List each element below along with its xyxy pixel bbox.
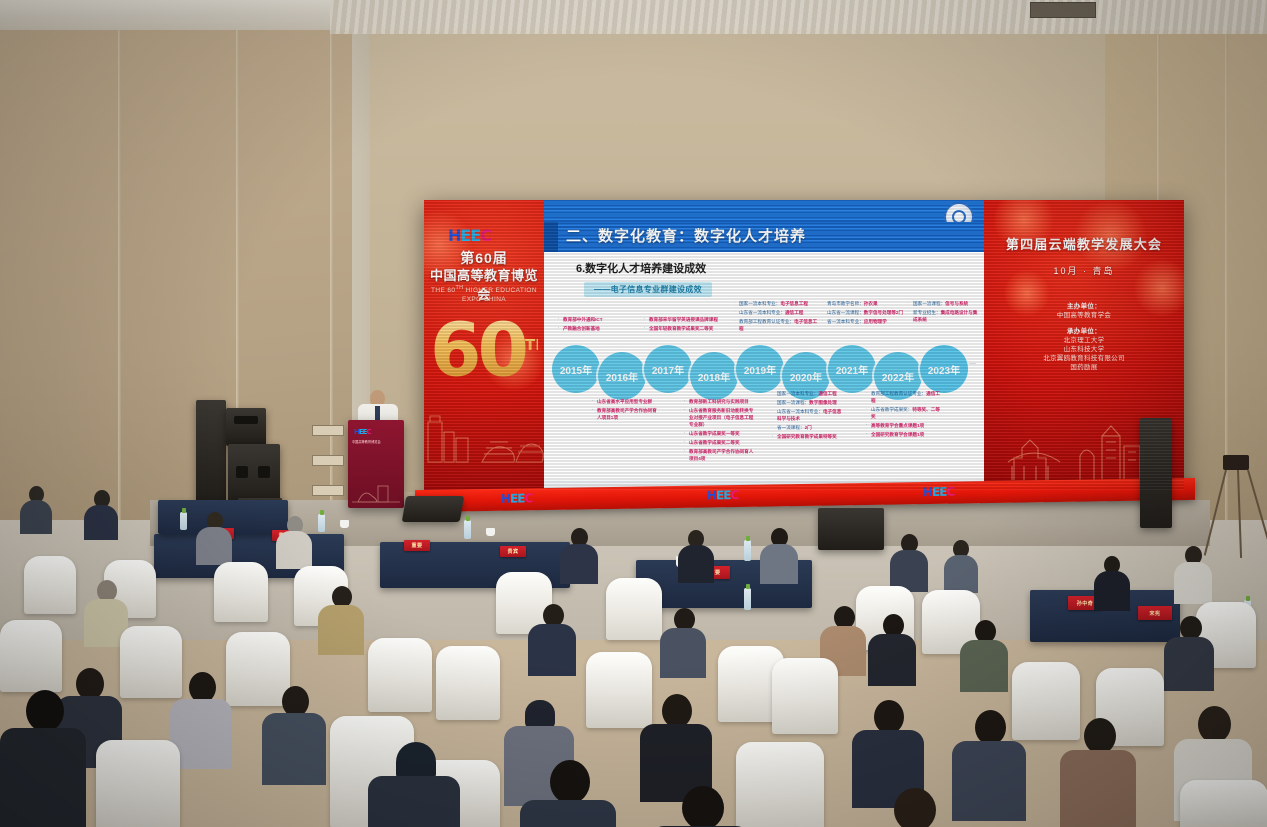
water-bottle-3 xyxy=(464,520,471,539)
slide-top-bar xyxy=(544,200,984,222)
chair xyxy=(214,562,268,622)
chair xyxy=(24,556,76,614)
loudspeaker-icon-left-mid xyxy=(226,408,266,446)
audience-person xyxy=(1060,718,1136,827)
audience-person-foreground xyxy=(650,786,750,827)
chair xyxy=(368,638,432,712)
audience-person xyxy=(262,686,326,782)
presentation-slide: 二、数字化教育：数字化人才培养 6.数字化人才培养建设成效 ——电子信息专业群建… xyxy=(544,200,984,490)
wall-poster-2 xyxy=(312,455,344,466)
audience-person xyxy=(196,512,232,562)
chair xyxy=(436,646,500,720)
audience-person xyxy=(1094,556,1130,608)
tea-cup-2 xyxy=(486,528,495,536)
slide-heading: 6.数字化人才培养建设成效 xyxy=(576,260,706,276)
audience-person xyxy=(760,528,798,580)
audience-person-foreground xyxy=(860,788,964,827)
timeline-column-2016-below: 山东省高水平应用型专业群教育部高教司产学合作协同育人项目1项 xyxy=(592,398,658,423)
audience-person xyxy=(20,486,52,532)
audience-person xyxy=(84,490,118,538)
podium-text: 中国高等教育博览会 xyxy=(352,440,400,445)
wall-poster-3 xyxy=(312,485,344,496)
slide-subtitle-pill: ——电子信息专业群建设成效 xyxy=(584,282,712,297)
conference-hall-photo: HEEC 第60届 中国高等教育博览会 THE 60TH HIGHER EDUC… xyxy=(0,0,1267,827)
water-bottle-1 xyxy=(180,512,187,530)
timeline-column-2017-above: 教育部来华留学英语授课品牌课程全国年轻教育教学成果奖二等奖 xyxy=(644,316,728,334)
conference-date-location: 10月 · 青岛 xyxy=(984,264,1184,277)
timeline-circle-2023[interactable]: 2023年 xyxy=(920,345,968,393)
slide-section-title: 二、数字化教育：数字化人才培养 xyxy=(566,225,806,246)
audience-person xyxy=(944,540,978,590)
timeline-circle-2015[interactable]: 2015年 xyxy=(552,345,600,393)
audience-person-foreground xyxy=(520,760,616,827)
host-name: 中国高等教育学会 xyxy=(984,311,1184,320)
coorganizer-4: 国药励展 xyxy=(984,363,1184,372)
heec-logo-rail-2: HEEC xyxy=(707,488,738,502)
audience-person xyxy=(528,604,576,672)
coorganizer-3: 北京翼鸥教育科技有限公司 xyxy=(984,354,1184,363)
host-label: 主办单位： xyxy=(984,302,1184,311)
audience-person xyxy=(1174,546,1212,600)
timeline-column-2015-above: 教育部中外通和ICT产教融合创新基地 xyxy=(558,316,618,334)
podium-heec-logo: HEEC xyxy=(354,428,371,436)
floor-monitor-icon xyxy=(402,496,465,522)
coorganizer-1: 北京理工大学 xyxy=(984,336,1184,345)
ceiling-vent-icon xyxy=(1030,2,1096,18)
chair xyxy=(96,740,180,827)
audience-person-foreground xyxy=(368,742,460,827)
audience-person xyxy=(890,534,928,588)
timeline-column-2023-above: 国家一流课程：信号与系统新专业招生：集成电路设计与集成系统 xyxy=(908,300,978,325)
loudspeaker-icon-right xyxy=(1140,418,1172,528)
water-bottle-5 xyxy=(744,588,751,610)
ceiling-ribs xyxy=(330,0,1267,34)
chair xyxy=(772,658,838,734)
left-event-banner: HEEC 第60届 中国高等教育博览会 THE 60TH HIGHER EDUC… xyxy=(424,200,544,490)
video-camera-icon xyxy=(1215,455,1261,560)
audience-person xyxy=(640,694,712,800)
timeline-circle-2017[interactable]: 2017年 xyxy=(644,345,692,393)
timeline-circle-2021[interactable]: 2021年 xyxy=(828,345,876,393)
coorganizer-2: 山东科技大学 xyxy=(984,345,1184,354)
audience-person xyxy=(318,586,364,650)
equipment-case-center xyxy=(818,508,884,550)
coorganizer-label: 承办单位： xyxy=(984,327,1184,336)
camera-body xyxy=(1223,455,1249,470)
water-bottle-4 xyxy=(744,540,751,561)
led-stage-screen: HEEC 第60届 中国高等教育博览会 THE 60TH HIGHER EDUC… xyxy=(424,200,1184,490)
heec-logo-rail-3: HEEC xyxy=(923,485,954,499)
timeline-circle-2016[interactable]: 2016年 xyxy=(598,352,646,400)
timeline-circle-2018[interactable]: 2018年 xyxy=(690,352,738,400)
audience-person xyxy=(276,516,312,566)
organizer-block: 主办单位： 中国高等教育学会 承办单位： 北京理工大学 山东科技大学 北京翼鸥教… xyxy=(984,302,1184,372)
podium-graphic xyxy=(348,464,404,504)
timeline-column-2019-above: 国家一流本科专业：电子信息工程山东省一流本科专业：通信工程教育部工程教育认证专业… xyxy=(734,300,818,334)
left-wall-panels xyxy=(0,18,352,578)
chair xyxy=(606,578,662,640)
heec-logo: HEEC xyxy=(448,226,491,245)
subwoofer-icon-left xyxy=(228,444,280,506)
timeline-column-2018-below: 教育部新工科研究与实践项目山东省教育服务新旧动能转换专业对接产业项目（电子信息工… xyxy=(684,398,756,464)
timeline-column-2020-below: 国家一流本科专业：通信工程国家一流课程：数字图像处理山东省一流本科专业：电子信息… xyxy=(772,390,844,442)
audience-person xyxy=(868,614,916,682)
wall-poster-1 xyxy=(312,425,344,436)
skyline-illustration-left xyxy=(424,404,544,464)
conference-title: 第四届云端教学发展大会 xyxy=(984,234,1184,253)
timeline-circle-2019[interactable]: 2019年 xyxy=(736,345,784,393)
tea-cup-1 xyxy=(340,520,349,528)
heec-logo-rail-1: HEEC xyxy=(501,491,532,505)
audience-person xyxy=(678,530,714,580)
audience-person xyxy=(660,608,706,674)
audience-person xyxy=(1164,616,1214,686)
big-60-graphic: 60TH xyxy=(430,308,538,388)
table-placard-3: 重要 xyxy=(404,540,430,551)
chair xyxy=(1180,780,1267,827)
audience-person xyxy=(960,620,1008,688)
podium: HEEC 中国高等教育博览会 xyxy=(348,420,404,508)
audience-person xyxy=(560,528,598,580)
loudspeaker-icon-left-tall xyxy=(196,400,226,506)
timeline-column-2021-above: 青岛市教学名师：孙农果山东省一流课程：数字信号处理等2门省一流本科专业：应用物理… xyxy=(822,300,906,327)
expo-name-en-label: THE 60TH HIGHER EDUCATIONEXPO CHINA xyxy=(424,284,544,304)
table-placard-4: 贵宾 xyxy=(500,546,526,557)
timeline-column-2022-below: 教育部工程教育认证专业：通信工程山东省教学成果奖：特等奖、二等奖高等教育学会重点… xyxy=(866,390,942,440)
chair xyxy=(0,620,62,692)
water-bottle-2 xyxy=(318,514,325,532)
audience-person-foreground xyxy=(0,690,86,827)
